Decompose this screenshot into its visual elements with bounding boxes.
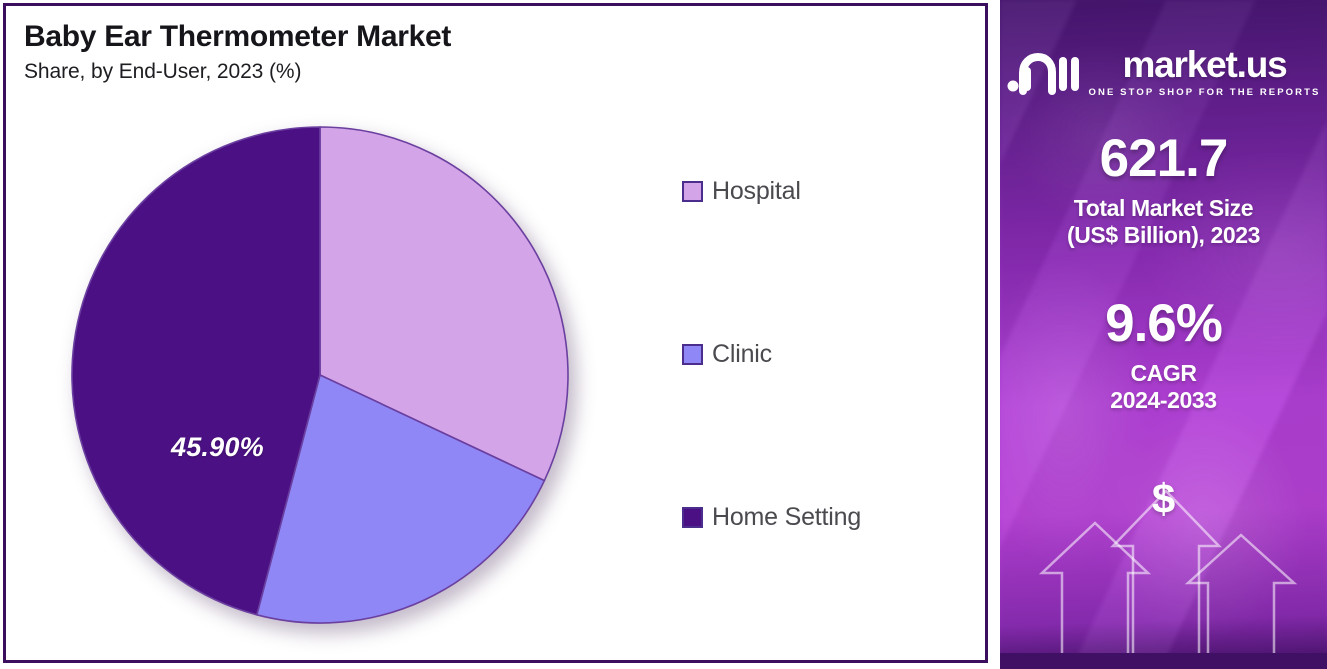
- logo-tagline: ONE STOP SHOP FOR THE REPORTS: [1089, 87, 1321, 98]
- cagr-block: 9.6% CAGR 2024-2033: [1000, 297, 1327, 414]
- legend-item-home-setting[interactable]: Home Setting: [682, 502, 972, 532]
- chart-panel: Baby Ear Thermometer Market Share, by En…: [3, 3, 988, 663]
- market-us-logo[interactable]: market.us ONE STOP SHOP FOR THE REPORTS: [1000, 46, 1327, 98]
- legend-item-clinic[interactable]: Clinic: [682, 339, 972, 369]
- cagr-caption-line1: CAGR: [1000, 360, 1327, 387]
- cagr-caption: CAGR 2024-2033: [1000, 360, 1327, 414]
- cagr-caption-line2: 2024-2033: [1000, 387, 1327, 414]
- infographic-canvas: Baby Ear Thermometer Market Share, by En…: [0, 0, 1327, 669]
- legend-label-hospital: Hospital: [712, 177, 801, 206]
- legend-swatch-clinic: [682, 344, 703, 365]
- market-size-caption-line1: Total Market Size: [1000, 195, 1327, 222]
- logo-text: market.us ONE STOP SHOP FOR THE REPORTS: [1089, 46, 1321, 98]
- chart-legend: Hospital Clinic Home Setting: [682, 176, 972, 532]
- logo-wordmark: market.us: [1122, 46, 1286, 83]
- legend-label-clinic: Clinic: [712, 340, 772, 369]
- chart-subtitle: Share, by End-User, 2023 (%): [24, 60, 451, 84]
- pie-slices: [69, 124, 579, 634]
- market-size-caption: Total Market Size (US$ Billion), 2023: [1000, 195, 1327, 249]
- cagr-value: 9.6%: [1000, 297, 1327, 350]
- chart-header: Baby Ear Thermometer Market Share, by En…: [24, 20, 451, 84]
- pie-chart: 45.90%: [69, 124, 579, 634]
- legend-label-home-setting: Home Setting: [712, 503, 861, 532]
- panel-bottom-band: [1000, 653, 1327, 669]
- market-size-value: 621.7: [1000, 132, 1327, 185]
- legend-item-hospital[interactable]: Hospital: [682, 176, 972, 206]
- stat-panel: market.us ONE STOP SHOP FOR THE REPORTS …: [1000, 0, 1327, 669]
- market-size-caption-line2: (US$ Billion), 2023: [1000, 222, 1327, 249]
- page-title: Baby Ear Thermometer Market: [24, 20, 451, 54]
- legend-swatch-home-setting: [682, 507, 703, 528]
- market-size-block: 621.7 Total Market Size (US$ Billion), 2…: [1000, 132, 1327, 249]
- pie-data-label-home-setting: 45.90%: [171, 432, 264, 463]
- growth-arrows-icon: [1000, 449, 1327, 669]
- market-us-logo-icon: [1007, 49, 1079, 95]
- legend-swatch-hospital: [682, 181, 703, 202]
